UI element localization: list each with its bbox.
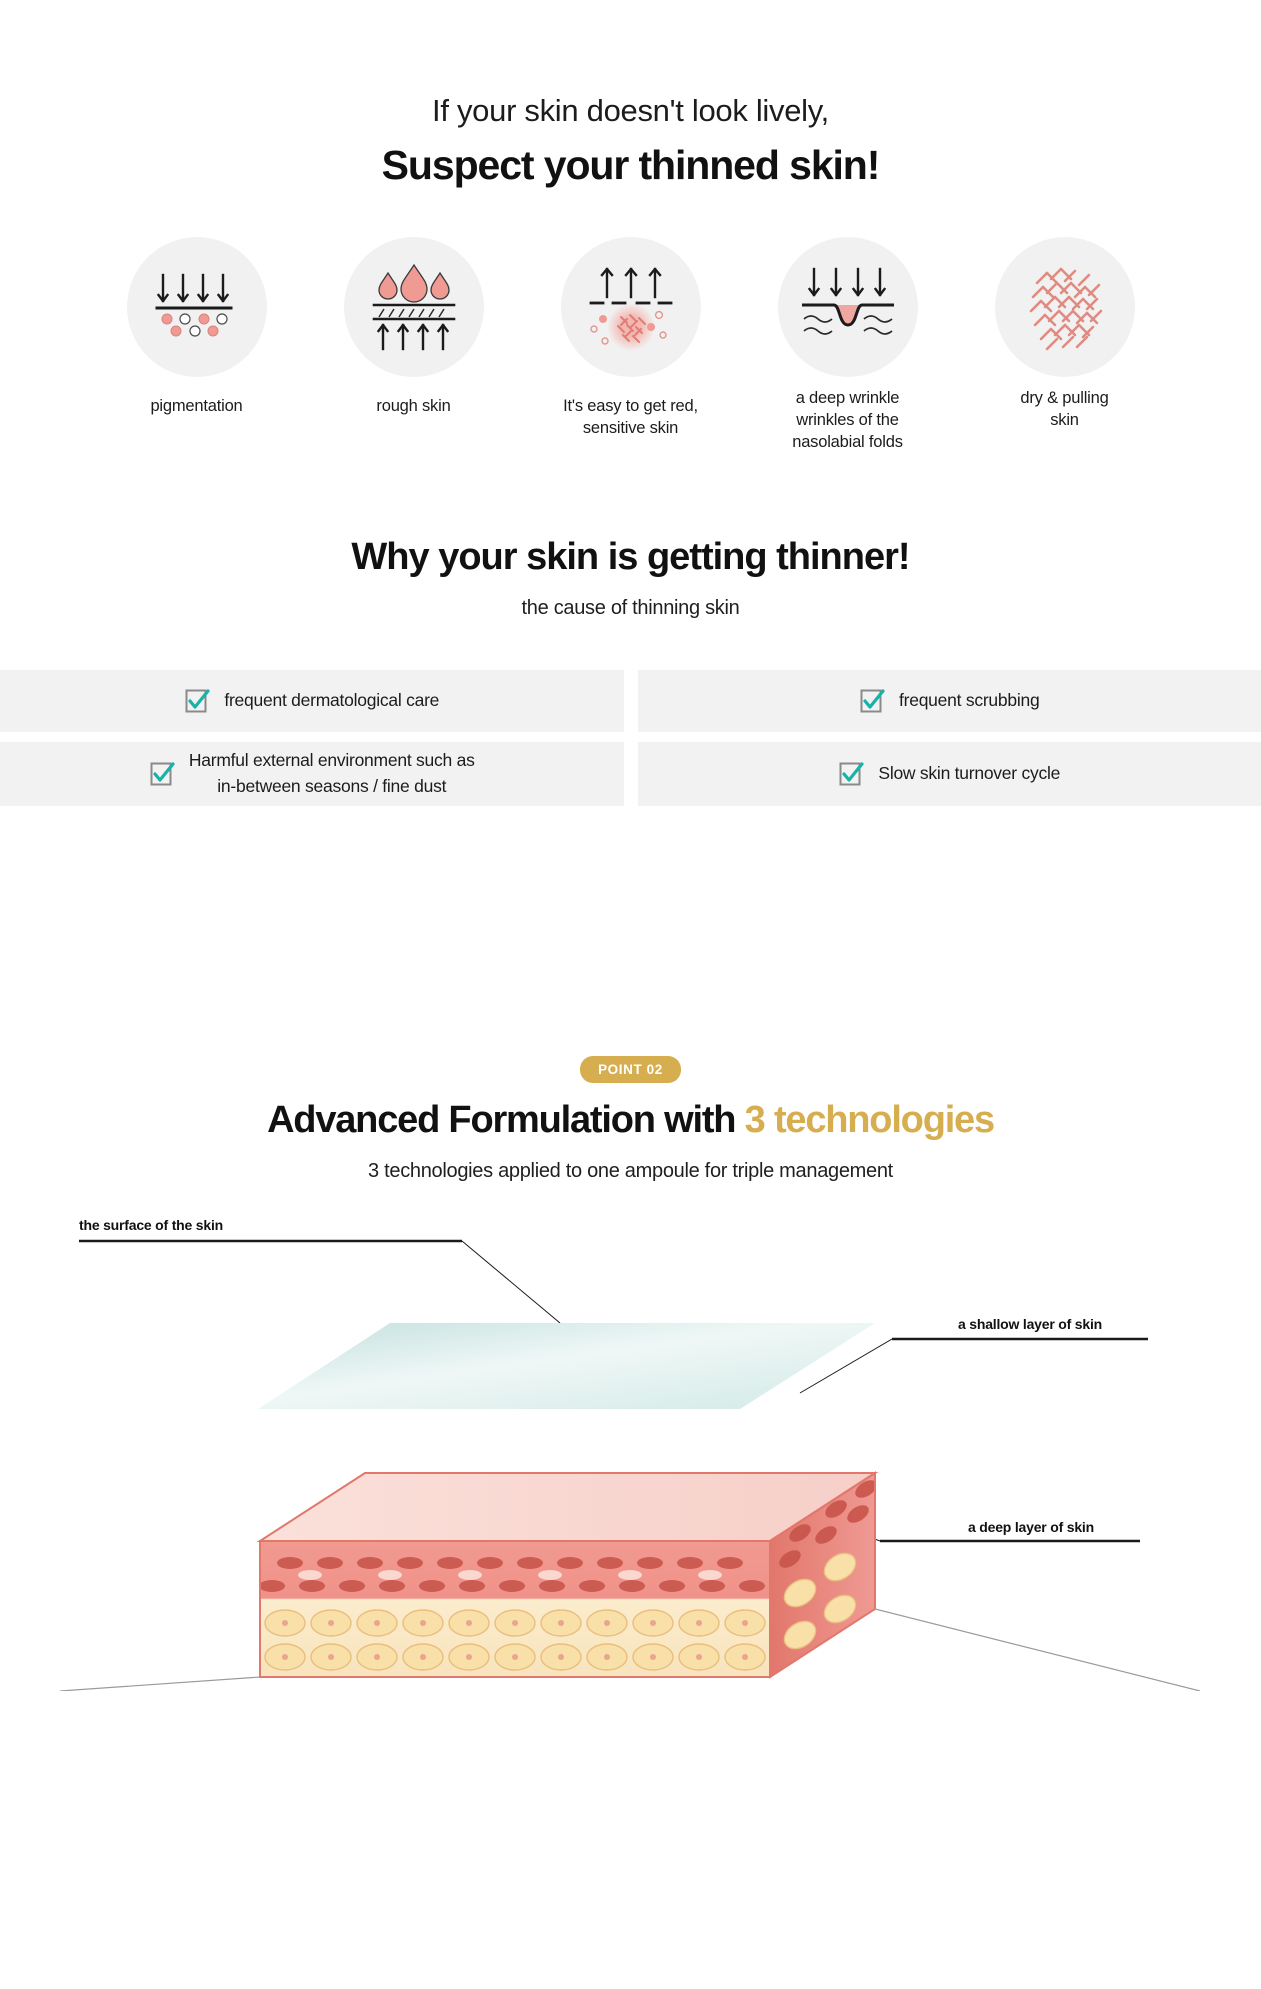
- cause-item[interactable]: frequent dermatological care: [0, 670, 624, 732]
- checkbox-checked-icon: [838, 761, 864, 787]
- section-title-gold: 3 technologies: [745, 1099, 994, 1141]
- checkbox-checked-icon: [859, 688, 885, 714]
- headline-line-2: Suspect your thinned skin!: [0, 141, 1261, 190]
- cause-label: Harmful external environment such as in-…: [189, 748, 475, 799]
- droplets-upward-arrows-rough-skin-icon: [344, 237, 484, 377]
- checkbox-checked-icon: [184, 688, 210, 714]
- skin-layer-diagram: the surface of the skin a shallow layer …: [0, 1211, 1261, 1691]
- point-badge: POINT 02: [580, 1056, 681, 1083]
- symptom-item-dry-pulling-skin: dry & pulling skin: [977, 237, 1153, 432]
- cause-item[interactable]: Slow skin turnover cycle: [638, 742, 1261, 806]
- symptom-item-rough-skin: rough skin: [326, 237, 502, 417]
- symptom-caption: a deep wrinkle wrinkles of the nasolabia…: [792, 387, 903, 454]
- symptom-icon-row: pigmentation: [0, 237, 1261, 454]
- cracked-mesh-dry-skin-icon: [995, 237, 1135, 377]
- section-subtitle: 3 technologies applied to one ampoule fo…: [0, 1160, 1261, 1183]
- cause-item[interactable]: Harmful external environment such as in-…: [0, 742, 624, 806]
- cause-label: frequent dermatological care: [224, 688, 439, 713]
- cause-section-header: Why your skin is getting thinner! the ca…: [0, 536, 1261, 620]
- section-title-black: Advanced Formulation with: [267, 1099, 745, 1141]
- downward-arrows-pigment-dots-icon: [127, 237, 267, 377]
- skin-cross-section-graphic: [0, 1211, 1261, 1691]
- diagram-label-surface: the surface of the skin: [79, 1217, 223, 1233]
- cause-item[interactable]: frequent scrubbing: [638, 670, 1261, 732]
- headline-line-1: If your skin doesn't look lively,: [0, 92, 1261, 131]
- section-title: Why your skin is getting thinner!: [0, 536, 1261, 579]
- upward-arrows-red-patch-icon: [561, 237, 701, 377]
- checkbox-checked-icon: [149, 761, 175, 787]
- diagram-label-shallow: a shallow layer of skin: [958, 1316, 1102, 1332]
- section-subtitle: the cause of thinning skin: [0, 597, 1261, 620]
- symptom-caption: It's easy to get red, sensitive skin: [563, 395, 698, 440]
- symptom-item-deep-wrinkle: a deep wrinkle wrinkles of the nasolabia…: [760, 237, 936, 454]
- section-title: Advanced Formulation with 3 technologies: [0, 1099, 1261, 1142]
- cause-label: frequent scrubbing: [899, 688, 1039, 713]
- symptom-item-pigmentation: pigmentation: [109, 237, 285, 417]
- diagram-label-deep: a deep layer of skin: [968, 1519, 1094, 1535]
- symptom-caption: pigmentation: [150, 395, 242, 417]
- hero-headline-block: If your skin doesn't look lively, Suspec…: [0, 0, 1261, 190]
- symptom-caption: dry & pulling skin: [1020, 387, 1108, 432]
- downward-arrows-deep-wrinkle-icon: [778, 237, 918, 377]
- point-02-section: POINT 02 Advanced Formulation with 3 tec…: [0, 1056, 1261, 1183]
- symptom-caption: rough skin: [376, 395, 450, 417]
- cause-checkbox-grid: frequent dermatological care frequent sc…: [0, 670, 1261, 806]
- ampoule-layer-sheet: [258, 1323, 875, 1409]
- cause-label: Slow skin turnover cycle: [878, 761, 1060, 786]
- symptom-item-sensitive-skin: It's easy to get red, sensitive skin: [543, 237, 719, 440]
